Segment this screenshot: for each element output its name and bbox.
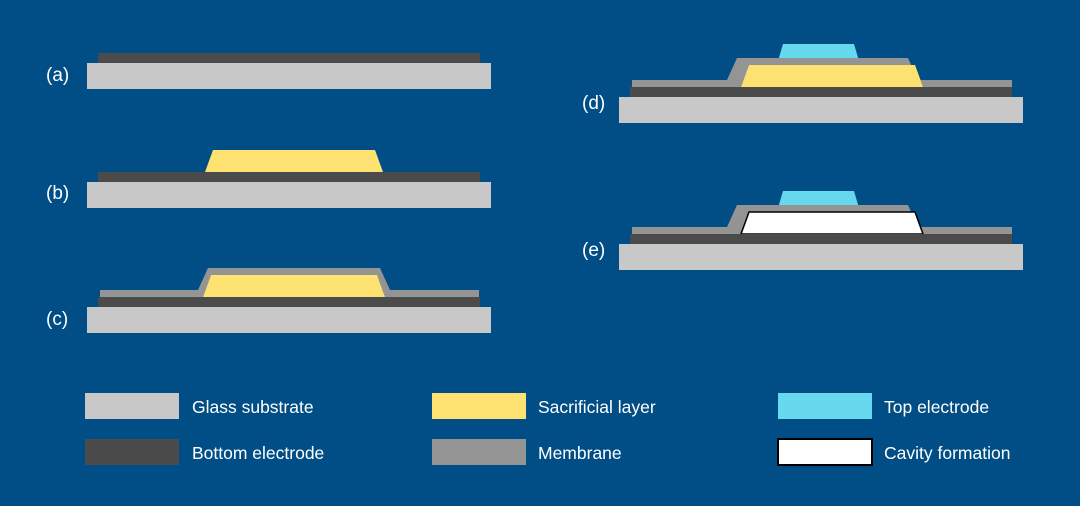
panel-d-label: (d) xyxy=(582,93,605,114)
panel-a-label: (a) xyxy=(46,65,69,86)
legend-item-glass-substrate: Glass substrate xyxy=(85,393,314,419)
legend-label-sacrificial-layer: Sacrificial layer xyxy=(538,397,656,417)
panel-a: (a) xyxy=(46,53,491,89)
panel-e-cavity-formation xyxy=(741,212,923,234)
legend-label-cavity-formation: Cavity formation xyxy=(884,443,1010,463)
legend-swatch-membrane xyxy=(432,439,526,465)
panel-c-bottom-electrode xyxy=(98,297,480,307)
panel-a-glass-substrate xyxy=(87,63,491,89)
panel-b-label: (b) xyxy=(46,183,69,204)
panel-d-glass-substrate xyxy=(619,97,1023,123)
panel-e-label: (e) xyxy=(582,240,605,261)
legend-swatch-cavity-formation xyxy=(778,439,872,465)
process-flow-diagram: (a) (b) (c) (d) (e) xyxy=(0,0,1080,506)
legend-label-bottom-electrode: Bottom electrode xyxy=(192,443,324,463)
panel-e-glass-substrate xyxy=(619,244,1023,270)
legend-swatch-top-electrode xyxy=(778,393,872,419)
legend-swatch-sacrificial-layer xyxy=(432,393,526,419)
panel-d-sacrificial-layer xyxy=(741,65,923,87)
legend-swatch-glass-substrate xyxy=(85,393,179,419)
legend-label-membrane: Membrane xyxy=(538,443,622,463)
panel-c-label: (c) xyxy=(46,309,68,330)
legend-item-cavity-formation: Cavity formation xyxy=(778,439,1010,465)
legend-item-sacrificial-layer: Sacrificial layer xyxy=(432,393,656,419)
panel-b-glass-substrate xyxy=(87,182,491,208)
legend-item-bottom-electrode: Bottom electrode xyxy=(85,439,324,465)
panel-c-glass-substrate xyxy=(87,307,491,333)
panel-d-bottom-electrode xyxy=(630,87,1012,97)
panel-e-bottom-electrode xyxy=(630,234,1012,244)
panel-b-bottom-electrode xyxy=(98,172,480,182)
legend-item-top-electrode: Top electrode xyxy=(778,393,989,419)
panel-c-sacrificial-layer xyxy=(203,275,385,297)
panel-a-bottom-electrode xyxy=(98,53,480,63)
panel-b-sacrificial-layer xyxy=(205,150,383,172)
legend-label-top-electrode: Top electrode xyxy=(884,397,989,417)
legend-swatch-bottom-electrode xyxy=(85,439,179,465)
legend-label-glass-substrate: Glass substrate xyxy=(192,397,314,417)
